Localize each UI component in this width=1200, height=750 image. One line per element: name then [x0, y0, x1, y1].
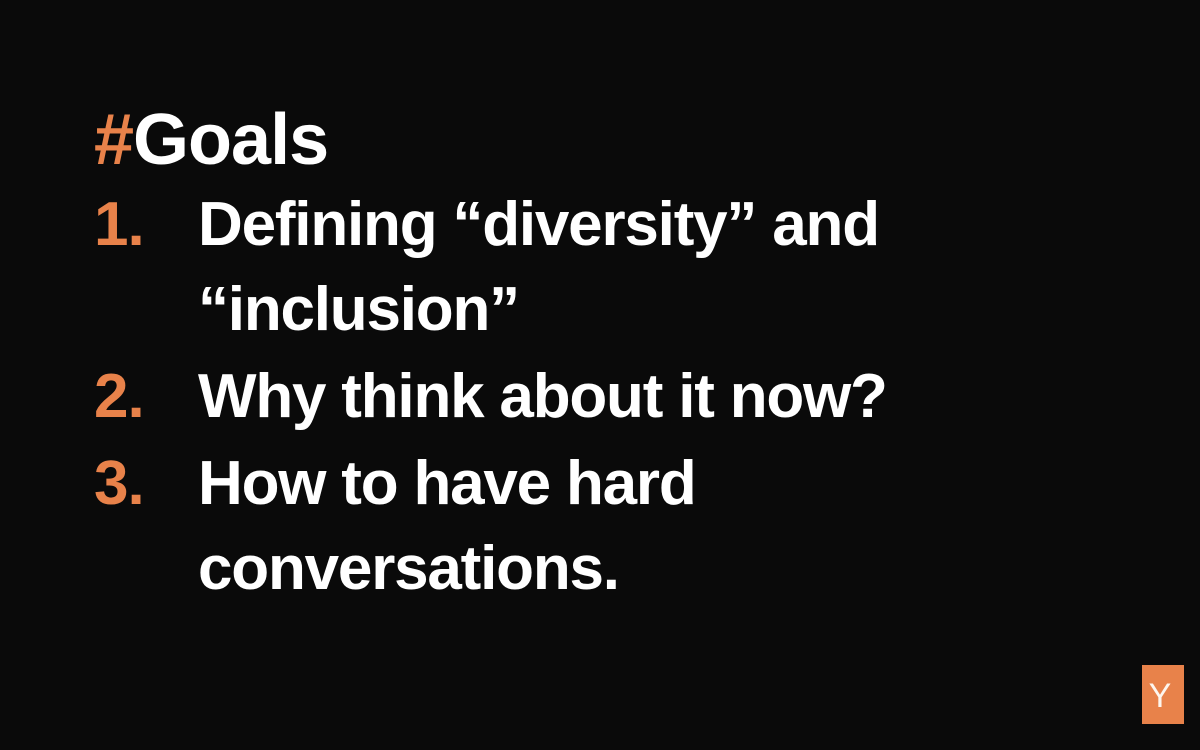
y-combinator-logo: Y — [1142, 665, 1184, 724]
list-item: 2. Why think about it now? — [94, 354, 1104, 439]
title-text: Goals — [133, 100, 328, 180]
list-item-number: 1. — [94, 182, 198, 267]
goals-list: 1. Defining “diversity” and “inclusion” … — [94, 182, 1104, 611]
list-item-number: 2. — [94, 354, 198, 439]
list-item: 3. How to have hard conversations. — [94, 441, 1104, 611]
list-item-number: 3. — [94, 441, 198, 526]
list-item-label: Defining “diversity” and “inclusion” — [198, 182, 1104, 352]
presentation-slide: #Goals 1. Defining “diversity” and “incl… — [0, 0, 1200, 750]
list-item: 1. Defining “diversity” and “inclusion” — [94, 182, 1104, 352]
slide-content: #Goals 1. Defining “diversity” and “incl… — [94, 104, 1104, 613]
logo-letter: Y — [1149, 679, 1172, 713]
page-title: #Goals — [94, 104, 1104, 176]
title-hash-prefix: # — [94, 100, 133, 180]
list-item-label: Why think about it now? — [198, 354, 1104, 439]
list-item-label: How to have hard conversations. — [198, 441, 1104, 611]
